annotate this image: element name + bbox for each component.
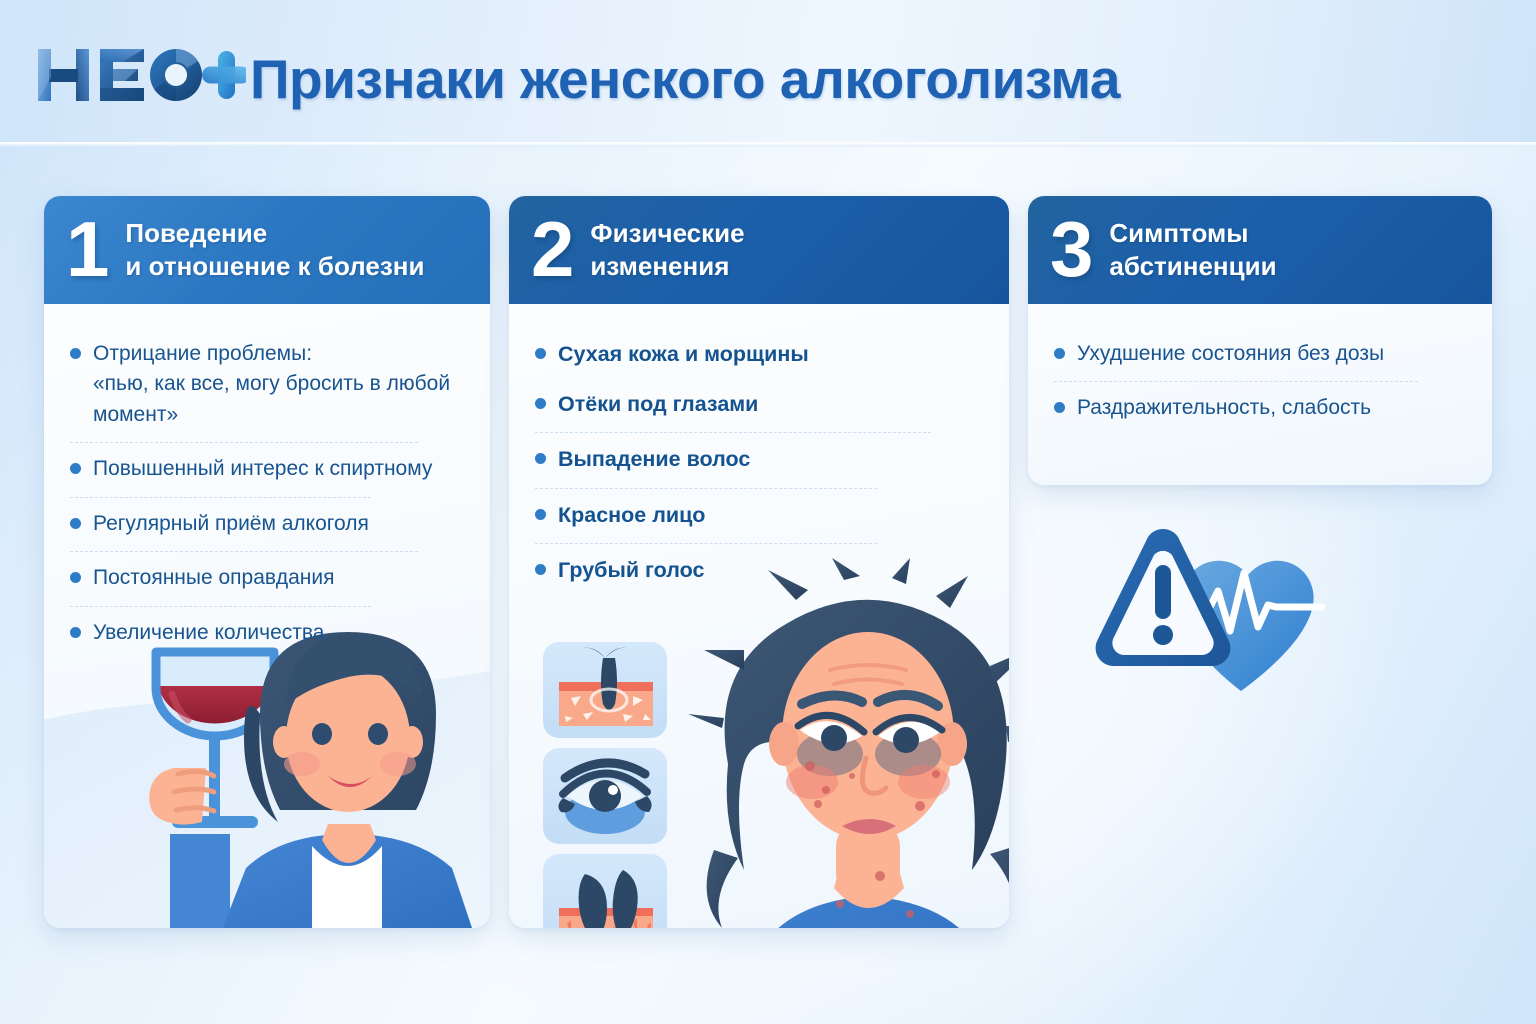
wine-glass-icon bbox=[156, 652, 274, 828]
face bbox=[782, 632, 954, 840]
card-3-clip: 3 Симптомы абстиненции Ухудшение состоян… bbox=[1028, 196, 1492, 485]
card-2-header: 2 Физические изменения bbox=[509, 196, 1009, 304]
list-item: Грубый голос bbox=[535, 546, 985, 596]
list-separator bbox=[535, 488, 877, 489]
bullet-dot-icon bbox=[70, 348, 81, 359]
eye-left bbox=[312, 723, 332, 745]
list-separator bbox=[70, 497, 371, 498]
dry-skin-follicle-icon bbox=[543, 642, 667, 738]
red-cheek-right bbox=[898, 765, 950, 799]
forehead-wrinkles bbox=[830, 665, 906, 684]
hand-holding-glass bbox=[149, 768, 230, 928]
list-item-label: Ухудшение состояния без дозы bbox=[1077, 339, 1384, 369]
card-3-number: 3 bbox=[1050, 218, 1093, 282]
eyebrow-left bbox=[802, 695, 862, 704]
hair-loss-follicle-icon bbox=[543, 854, 667, 928]
logo-letter-e bbox=[100, 49, 144, 101]
skin-blemishes bbox=[799, 761, 940, 928]
list-item: Раздражительность, слабость bbox=[1054, 384, 1468, 433]
card-physical-changes: 2 Физические изменения Сухая кожа и морщ… bbox=[509, 196, 1009, 928]
bullet-dot-icon bbox=[535, 348, 546, 359]
page-title: Признаки женского алкоголизма bbox=[250, 47, 1120, 111]
list-separator bbox=[70, 551, 418, 552]
list-separator bbox=[1054, 381, 1418, 382]
list-item: Постоянные оправдания bbox=[70, 554, 466, 603]
bullet-dot-icon bbox=[1054, 402, 1065, 413]
dark-circle-left bbox=[797, 732, 863, 776]
list-separator bbox=[70, 442, 418, 443]
withdrawal-illustration bbox=[1028, 485, 1492, 745]
bullet-dot-icon bbox=[535, 564, 546, 575]
list-item: Ухудшение состояния без дозы bbox=[1054, 330, 1468, 379]
smile bbox=[328, 776, 372, 787]
card-3-title: Симптомы абстиненции bbox=[1109, 217, 1276, 284]
card-2-body: Сухая кожа и морщины Отёки под глазами В… bbox=[509, 304, 1009, 596]
list-item: Отёки под глазами bbox=[535, 380, 985, 430]
list-item: Красное лицо bbox=[535, 491, 985, 541]
card-3-list: Ухудшение состояния без дозы Раздражител… bbox=[1054, 330, 1468, 434]
list-separator bbox=[70, 606, 371, 607]
card-2-number: 2 bbox=[531, 218, 574, 282]
torso bbox=[740, 896, 998, 928]
nose bbox=[862, 758, 886, 793]
list-item-label: Сухая кожа и морщины bbox=[558, 339, 809, 370]
list-item-label: Отрицание проблемы: «пью, как все, могу … bbox=[93, 339, 466, 430]
heart-with-heartbeat-icon bbox=[1178, 561, 1322, 691]
card-3-body: Ухудшение состояния без дозы Раздражител… bbox=[1028, 304, 1492, 434]
list-item-label: Раздражительность, слабость bbox=[1077, 393, 1371, 423]
card-1-number: 1 bbox=[66, 218, 109, 282]
eyebrow-right bbox=[878, 695, 938, 706]
bullet-dot-icon bbox=[535, 453, 546, 464]
bullet-dot-icon bbox=[535, 398, 546, 409]
tired-woman-face-illustration bbox=[684, 558, 1009, 928]
card-3-header: 3 Симптомы абстиненции bbox=[1028, 196, 1492, 304]
list-item-label: Повышенный интерес к спиртному bbox=[93, 454, 432, 484]
bullet-dot-icon bbox=[535, 509, 546, 520]
list-item: Отрицание проблемы: «пью, как все, могу … bbox=[70, 330, 466, 440]
bullet-dot-icon bbox=[70, 627, 81, 638]
logo-letter-o bbox=[150, 49, 202, 101]
list-separator bbox=[535, 543, 877, 544]
list-separator bbox=[535, 432, 931, 433]
brand-logo bbox=[36, 44, 246, 106]
dark-circle-right bbox=[875, 732, 941, 776]
bullet-dot-icon bbox=[70, 572, 81, 583]
card-2-title: Физические изменения bbox=[590, 217, 744, 284]
list-item: Сухая кожа и морщины bbox=[535, 330, 985, 380]
plus-icon bbox=[202, 51, 246, 99]
card-1-body: Отрицание проблемы: «пью, как все, могу … bbox=[44, 304, 490, 658]
card-withdrawal-symptoms: 3 Симптомы абстиненции Ухудшение состоян… bbox=[1028, 196, 1492, 485]
list-item: Выпадение волос bbox=[535, 435, 985, 485]
list-item-label: Увеличение количества bbox=[93, 618, 324, 648]
mouth-frown bbox=[842, 819, 896, 834]
card-1-title: Поведение и отношение к болезни bbox=[125, 217, 424, 284]
infographic-poster: Признаки женского алкоголизма bbox=[0, 0, 1536, 1024]
list-item-label: Выпадение волос bbox=[558, 444, 750, 475]
list-item-label: Отёки под глазами bbox=[558, 389, 758, 420]
eye-right bbox=[368, 723, 388, 745]
red-cheek-left bbox=[786, 765, 838, 799]
card-behavior: 1 Поведение и отношение к болезни Отрица… bbox=[44, 196, 490, 928]
tired-eyes bbox=[798, 695, 942, 753]
list-item-label: Постоянные оправдания bbox=[93, 563, 334, 593]
card-1-clip: 1 Поведение и отношение к болезни Отрица… bbox=[44, 196, 490, 928]
list-item: Повышенный интерес к спиртному bbox=[70, 445, 466, 494]
bullet-dot-icon bbox=[70, 518, 81, 529]
under-eye-bag-eye-icon bbox=[543, 748, 667, 844]
list-item: Регулярный приём алкоголя bbox=[70, 500, 466, 549]
logo-letter-n bbox=[38, 49, 89, 101]
bullet-dot-icon bbox=[1054, 348, 1065, 359]
list-item-label: Красное лицо bbox=[558, 500, 705, 531]
bullet-dot-icon bbox=[70, 463, 81, 474]
card-2-clip: 2 Физические изменения Сухая кожа и морщ… bbox=[509, 196, 1009, 928]
symptom-icon-tiles bbox=[537, 640, 687, 928]
messy-hair bbox=[688, 558, 1009, 928]
header-divider bbox=[0, 142, 1536, 147]
card-1-header: 1 Поведение и отношение к болезни bbox=[44, 196, 490, 304]
list-item-label: Регулярный приём алкоголя bbox=[93, 509, 369, 539]
card-2-list: Сухая кожа и морщины Отёки под глазами В… bbox=[535, 330, 985, 596]
woman-head bbox=[244, 632, 436, 822]
list-item: Увеличение количества bbox=[70, 609, 466, 658]
warning-triangle-icon bbox=[1096, 529, 1231, 666]
list-item-label: Грубый голос bbox=[558, 555, 704, 586]
card-1-list: Отрицание проблемы: «пью, как все, могу … bbox=[70, 330, 466, 658]
woman-body bbox=[218, 824, 476, 928]
